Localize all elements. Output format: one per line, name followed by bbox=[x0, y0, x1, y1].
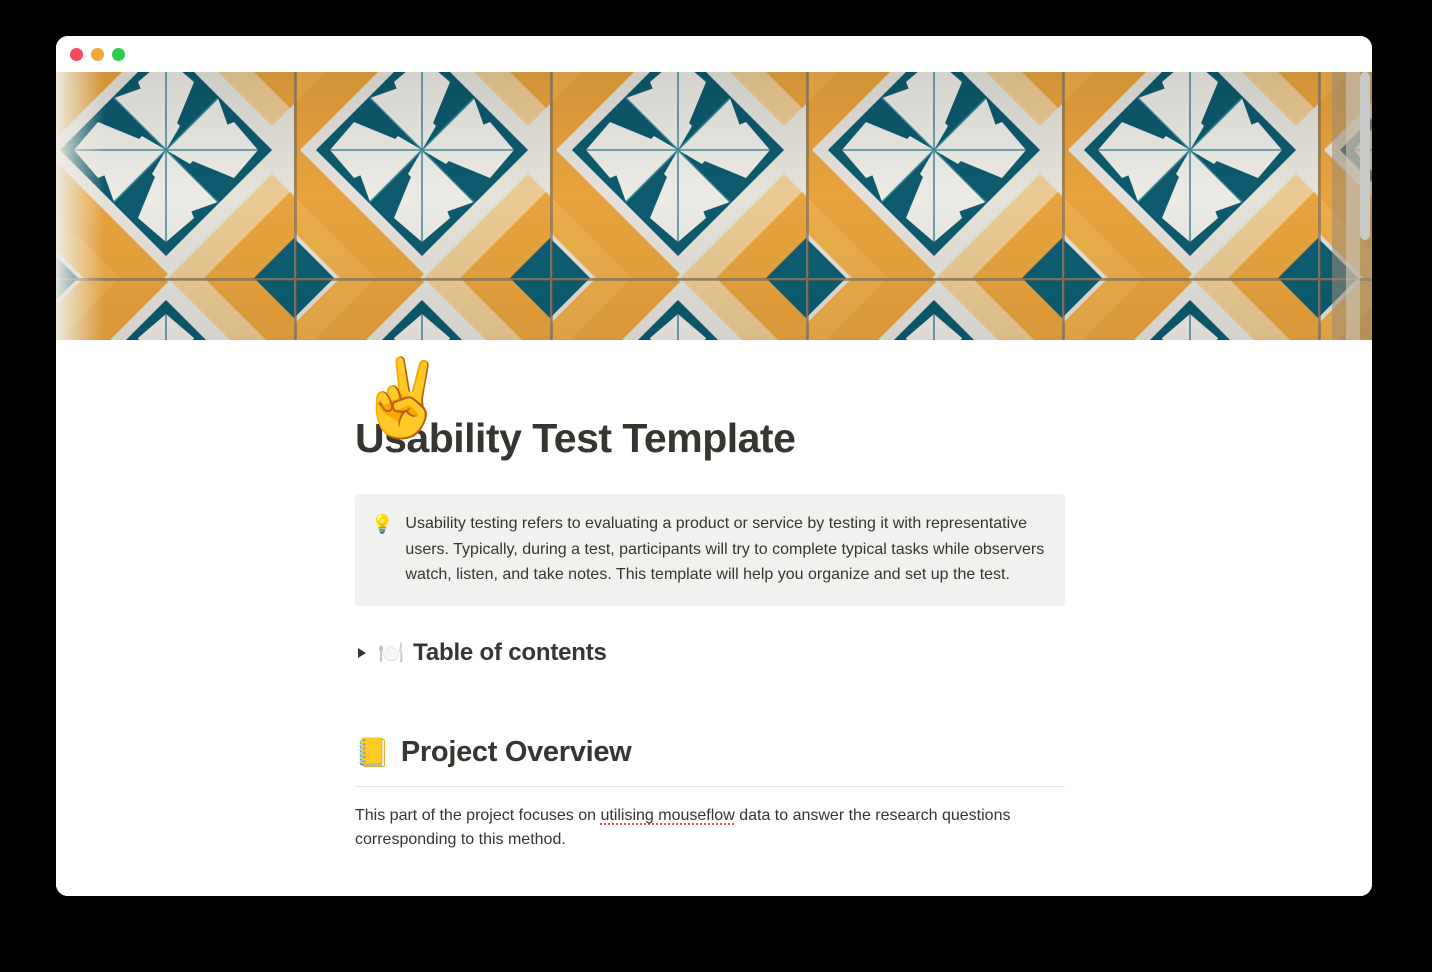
light-bulb-icon: 💡 bbox=[371, 511, 393, 587]
azulejo-tile-pattern bbox=[56, 72, 1372, 340]
toggle-label: Table of contents bbox=[413, 639, 607, 667]
section-heading-row[interactable]: 📒 Project Overview bbox=[355, 736, 1332, 769]
callout-text: Usability testing refers to evaluating a… bbox=[405, 511, 1045, 587]
misspelled-text[interactable]: utilising mouseflow bbox=[600, 807, 734, 824]
page-cover-image[interactable] bbox=[56, 72, 1372, 340]
minimize-button[interactable] bbox=[91, 48, 104, 61]
fork-and-knife-with-plate-icon: 🍽️ bbox=[378, 643, 404, 664]
overview-paragraph[interactable]: This part of the project focuses on util… bbox=[355, 804, 1045, 853]
document-body: ✌️ Usability Test Template 💡 Usability t… bbox=[56, 414, 1372, 896]
section-project-overview: 📒 Project Overview This part of the proj… bbox=[355, 736, 1332, 896]
victory-hand-icon[interactable]: ✌️ bbox=[355, 361, 450, 437]
subheading-hypotheses[interactable]: Hypotheses, goals & research questions bbox=[355, 893, 1332, 896]
traffic-light-buttons bbox=[70, 48, 125, 61]
vertical-scrollbar-thumb[interactable] bbox=[1360, 72, 1370, 240]
chevron-right-icon[interactable] bbox=[355, 646, 369, 660]
window-title-bar bbox=[56, 36, 1372, 72]
ledger-notebook-icon: 📒 bbox=[355, 739, 390, 767]
document-scroll-area[interactable]: ✌️ Usability Test Template 💡 Usability t… bbox=[56, 72, 1372, 896]
screenshot-stage: ✌️ Usability Test Template 💡 Usability t… bbox=[0, 0, 1432, 972]
page-title[interactable]: Usability Test Template bbox=[355, 414, 1332, 462]
vertical-scrollbar-track[interactable] bbox=[1357, 72, 1372, 896]
close-button[interactable] bbox=[70, 48, 83, 61]
callout-block[interactable]: 💡 Usability testing refers to evaluating… bbox=[355, 494, 1065, 606]
paragraph-text-before: This part of the project focuses on bbox=[355, 807, 600, 824]
app-window: ✌️ Usability Test Template 💡 Usability t… bbox=[56, 36, 1372, 896]
toggle-table-of-contents[interactable]: 🍽️ Table of contents bbox=[355, 639, 775, 667]
section-divider bbox=[355, 786, 1065, 787]
section-title: Project Overview bbox=[401, 736, 632, 769]
zoom-button[interactable] bbox=[112, 48, 125, 61]
